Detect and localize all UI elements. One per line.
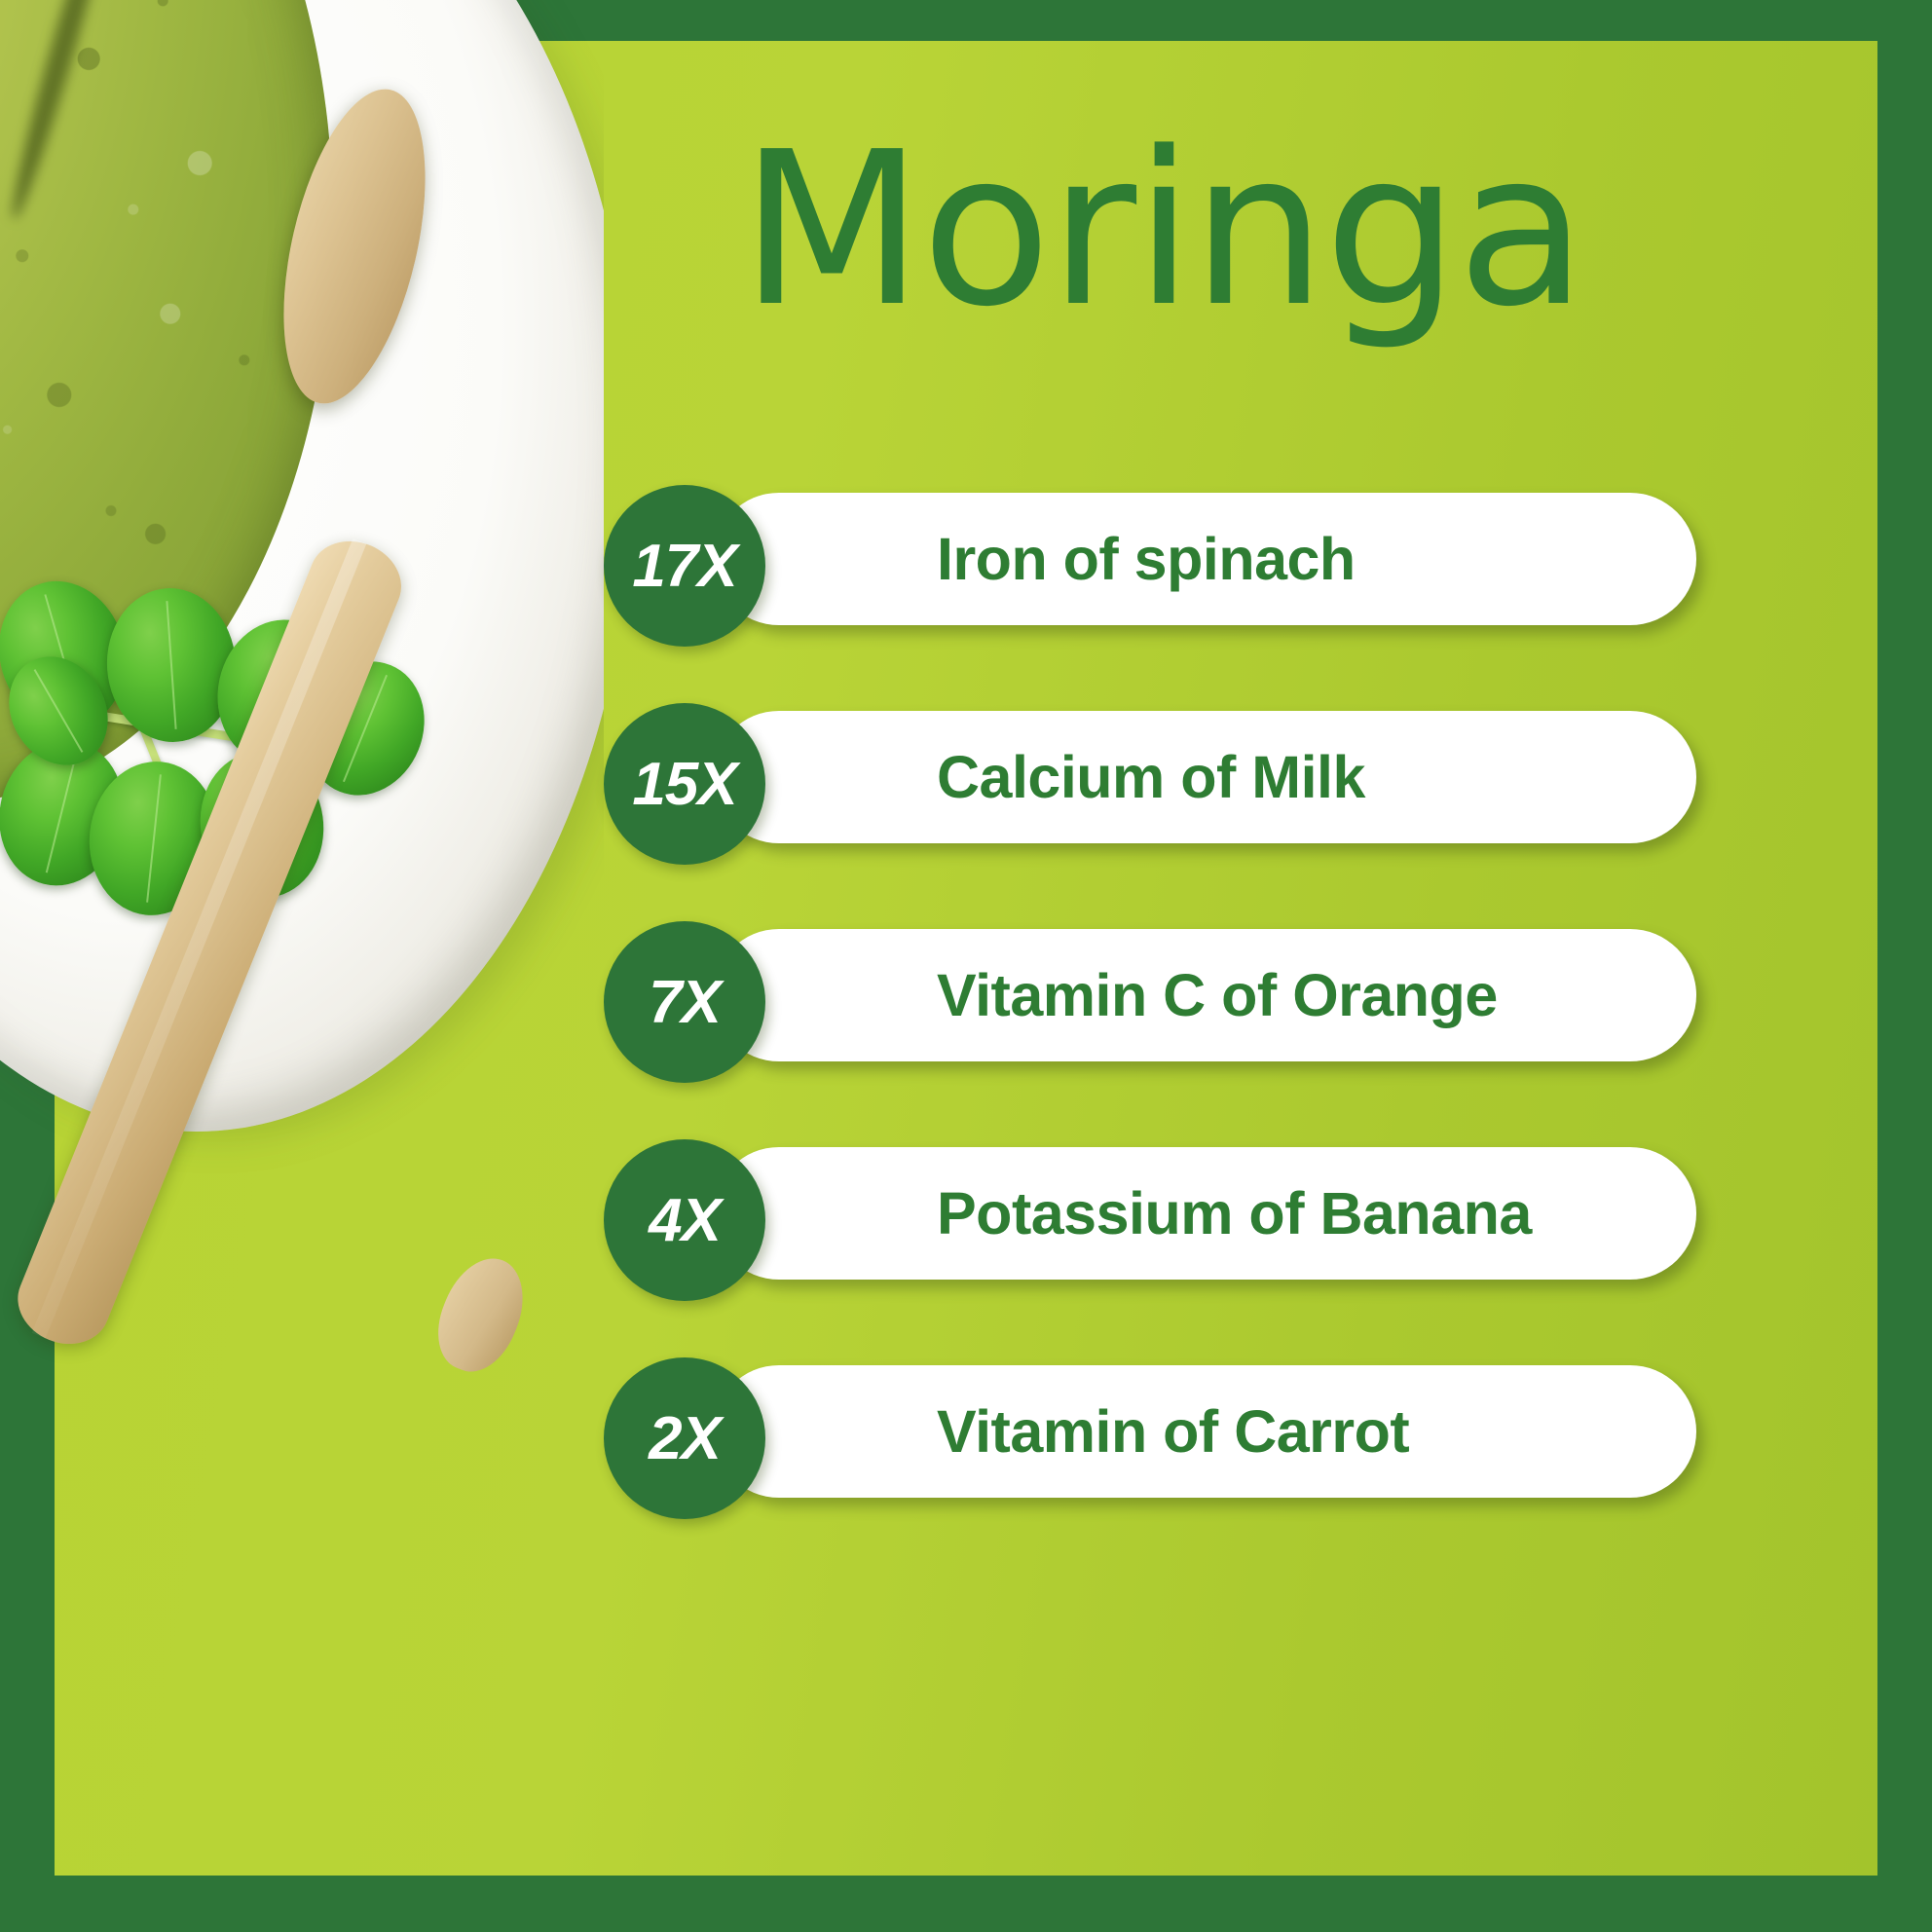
white-bowl (0, 0, 604, 1132)
fact-row[interactable]: Vitamin of Carrot 2X (604, 1357, 1696, 1505)
fact-row[interactable]: Iron of spinach 17X (604, 485, 1696, 633)
fact-multiplier-badge: 15X (604, 703, 765, 865)
fact-multiplier-text: 2X (649, 1404, 721, 1473)
facts-list: Iron of spinach 17X Calcium of Milk 15X … (604, 485, 1696, 1505)
fact-label: Iron of spinach (937, 525, 1356, 593)
fact-label: Potassium of Banana (937, 1179, 1532, 1247)
fact-pill[interactable]: Vitamin C of Orange (713, 929, 1696, 1061)
page-title: Moringa (740, 125, 1585, 337)
fact-multiplier-text: 15X (632, 750, 736, 819)
fact-label: Calcium of Milk (937, 743, 1365, 811)
fact-multiplier-badge: 2X (604, 1357, 765, 1519)
fact-multiplier-text: 7X (649, 968, 721, 1037)
moringa-infographic: Moringa Iron of spinach 17X Calcium of M… (0, 0, 1932, 1932)
fact-pill[interactable]: Iron of spinach (713, 493, 1696, 625)
fact-pill[interactable]: Potassium of Banana (713, 1147, 1696, 1280)
fact-multiplier-text: 17X (632, 532, 736, 601)
fact-pill[interactable]: Calcium of Milk (713, 711, 1696, 843)
fact-row[interactable]: Vitamin C of Orange 7X (604, 921, 1696, 1069)
content-column: Moringa Iron of spinach 17X Calcium of M… (740, 0, 1932, 1932)
fact-pill[interactable]: Vitamin of Carrot (713, 1365, 1696, 1498)
fact-label: Vitamin C of Orange (937, 961, 1498, 1029)
fact-row[interactable]: Potassium of Banana 4X (604, 1139, 1696, 1287)
fact-multiplier-badge: 7X (604, 921, 765, 1083)
fact-label: Vitamin of Carrot (937, 1397, 1409, 1466)
fact-multiplier-badge: 17X (604, 485, 765, 647)
fact-multiplier-badge: 4X (604, 1139, 765, 1301)
fact-row[interactable]: Calcium of Milk 15X (604, 703, 1696, 851)
fact-multiplier-text: 4X (649, 1186, 721, 1255)
